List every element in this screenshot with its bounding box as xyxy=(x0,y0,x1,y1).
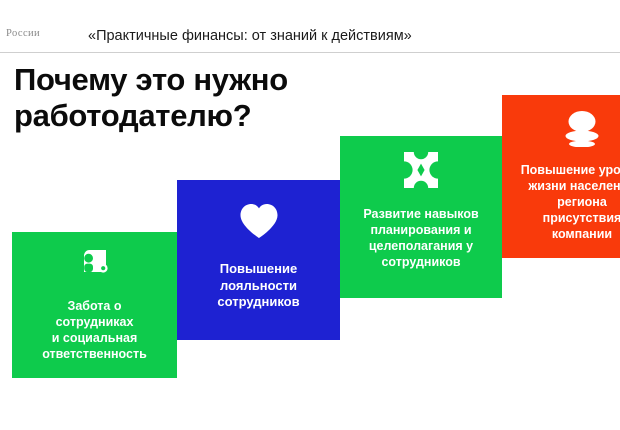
slide: России «Практичные финансы: от знаний к … xyxy=(0,0,620,430)
coin-stack-icon xyxy=(559,109,605,152)
header-title: «Практичные финансы: от знаний к действи… xyxy=(88,28,412,44)
card-care[interactable]: Забота о сотрудниках и социальная ответс… xyxy=(12,232,177,378)
slide-header: России «Практичные финансы: от знаний к … xyxy=(0,0,620,53)
four-circles-icon xyxy=(400,150,442,195)
brand-logo: России xyxy=(6,28,40,39)
card-skills[interactable]: Развитие навыков планирования и целепола… xyxy=(340,136,502,298)
card-care-label: Забота о сотрудниках и социальная ответс… xyxy=(42,298,147,362)
header-divider xyxy=(0,52,620,53)
heart-icon xyxy=(238,202,280,245)
card-living-standards-label: Повышение уровня жизни населения региона… xyxy=(521,162,620,242)
card-skills-label: Развитие навыков планирования и целепола… xyxy=(363,206,478,270)
card-loyalty[interactable]: Повышение лояльности сотрудников xyxy=(177,180,340,340)
card-loyalty-label: Повышение лояльности сотрудников xyxy=(217,261,299,311)
people-group-icon xyxy=(76,246,114,289)
card-living-standards[interactable]: Повышение уровня жизни населения региона… xyxy=(502,95,620,258)
page-title: Почему это нужно работодателю? xyxy=(14,62,444,134)
